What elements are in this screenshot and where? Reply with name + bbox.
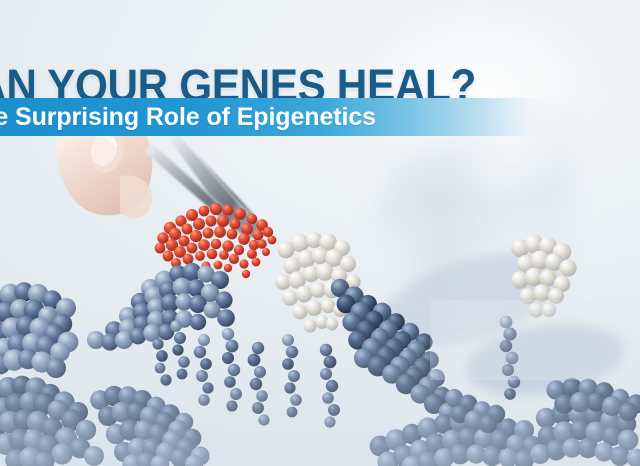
bottom-haze [0, 316, 640, 466]
page-subtitle: The Surprising Role of Epigenetics [0, 101, 376, 133]
epigenetics-hero-banner: CAN YOUR GENES HEAL? The Surprising Role… [0, 0, 640, 466]
